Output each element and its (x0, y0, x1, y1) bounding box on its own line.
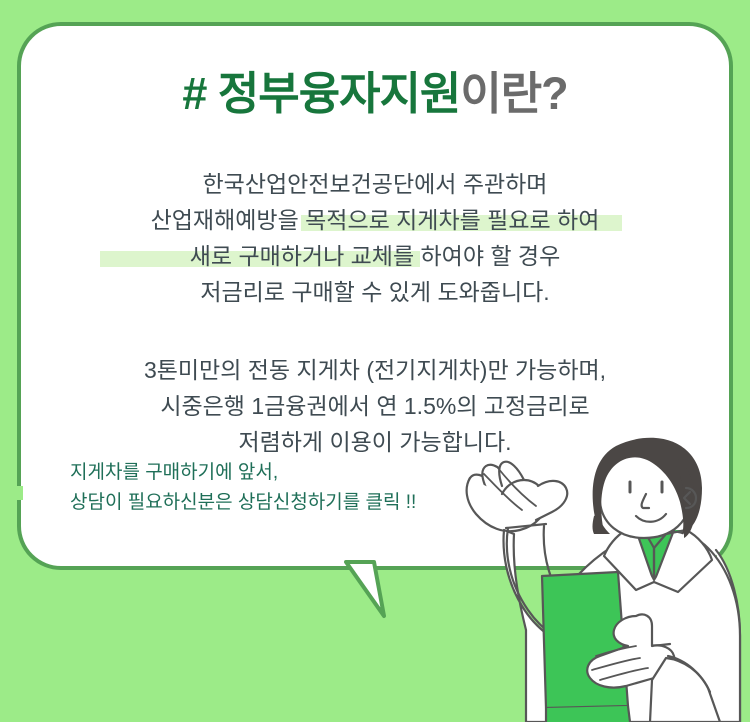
body-line: 새로 구매하거나 교체를 하여야 할 경우 (0, 238, 750, 274)
body-line: 시중은행 1금융권에서 연 1.5%의 고정금리로 (0, 388, 750, 424)
cta-line: 지게차를 구매하기에 앞서, (70, 458, 416, 488)
body-line: 저금리로 구매할 수 있게 도와줍니다. (0, 274, 750, 310)
title-green-part: 정부융자지원 (206, 68, 460, 119)
consultation-cta[interactable]: 지게차를 구매하기에 앞서, 상담이 필요하신분은 상담신청하기를 클릭 !! (70, 458, 416, 518)
body-line: 산업재해예방을 목적으로 지게차를 필요로 하여 (0, 202, 750, 238)
page-title: # 정부융자지원이란? (0, 57, 750, 122)
poster-canvas: # 정부융자지원이란? 한국산업안전보건공단에서 주관하며 산업재해예방을 목적… (0, 0, 750, 722)
speech-bubble-tail-icon (340, 560, 420, 622)
presenter-illustration (440, 430, 750, 722)
cta-line: 상담이 필요하신분은 상담신청하기를 클릭 !! (70, 488, 416, 518)
body-line: 한국산업안전보건공단에서 주관하며 (0, 166, 750, 202)
body-paragraph-1: 한국산업안전보건공단에서 주관하며 산업재해예방을 목적으로 지게차를 필요로 … (0, 166, 750, 310)
title-hash-icon: # (182, 68, 206, 119)
bubble-border-notch (14, 486, 23, 500)
body-line: 3톤미만의 전동 지게차 (전기지게차)만 가능하며, (0, 352, 750, 388)
title-gray-part: 이란? (460, 68, 567, 119)
